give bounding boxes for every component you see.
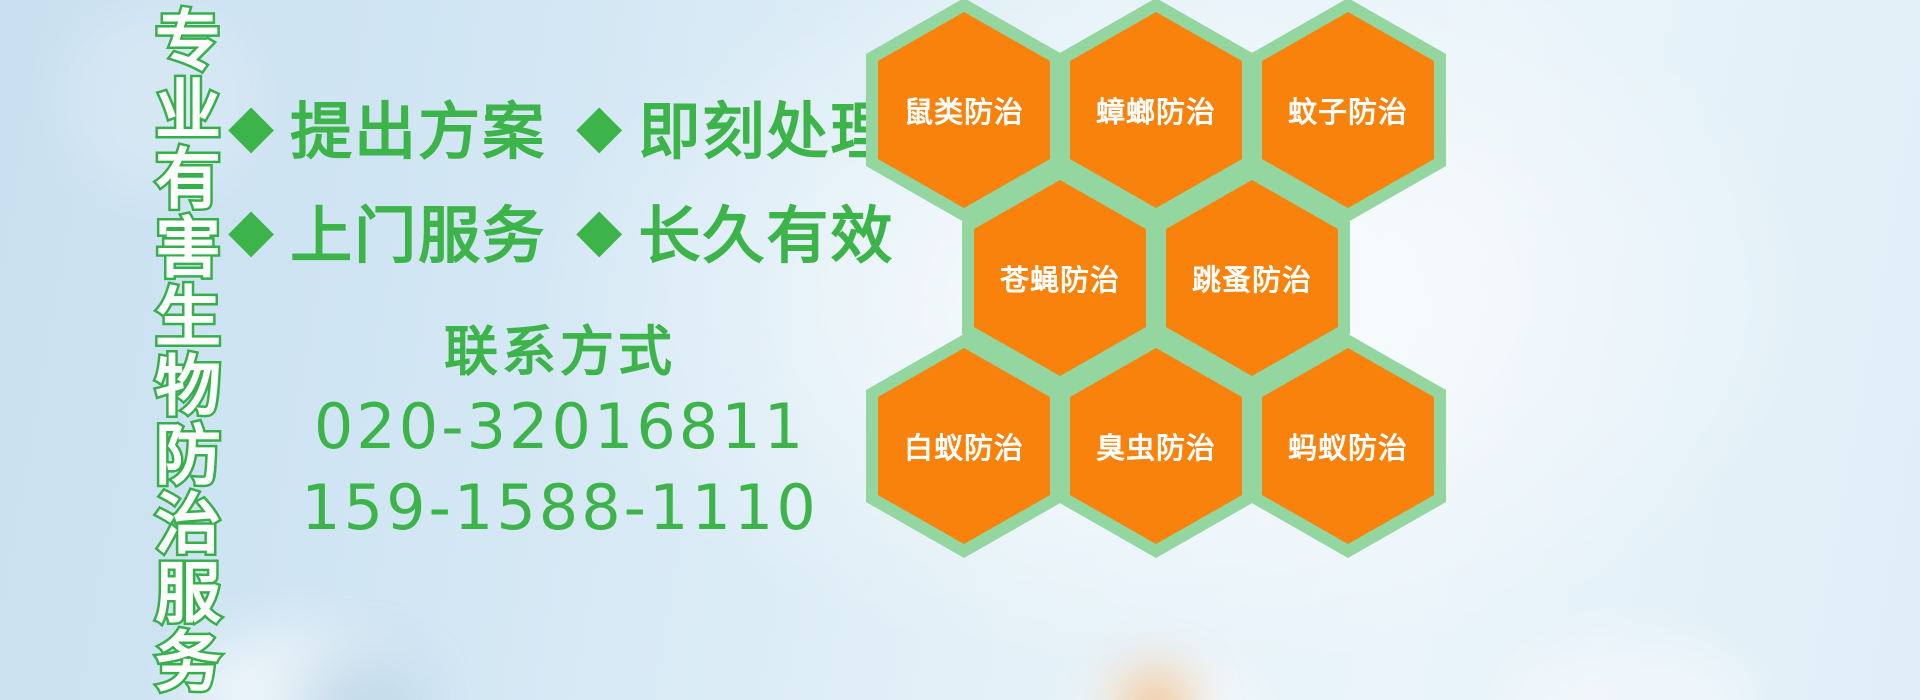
hex-inner: 蚂蚁防治 xyxy=(1262,348,1434,544)
hex-inner: 蚊子防治 xyxy=(1262,12,1434,208)
phone-number-landline[interactable]: 020-32016811 xyxy=(250,386,870,468)
hex-label: 蟑螂防治 xyxy=(1096,89,1216,131)
diamond-bullet-icon: ◆ xyxy=(228,200,274,260)
background-blur-blob xyxy=(1500,640,1760,700)
feature-item-long-lasting-effect: ◆ 长久有效 xyxy=(576,185,894,275)
feature-label: 上门服务 xyxy=(290,185,546,275)
hex-label: 跳蚤防治 xyxy=(1192,257,1312,299)
hex-label: 臭虫防治 xyxy=(1096,425,1216,467)
hex-inner: 臭虫防治 xyxy=(1070,348,1242,544)
diamond-bullet-icon: ◆ xyxy=(576,200,622,260)
hex-label: 蚊子防治 xyxy=(1288,89,1408,131)
feature-item-propose-plan: ◆ 提出方案 xyxy=(228,81,546,171)
contact-block: 联系方式 020-32016811 159-1588-1110 xyxy=(250,318,870,549)
hex-label: 苍蝇防治 xyxy=(1000,257,1120,299)
hex-inner: 白蚁防治 xyxy=(878,348,1050,544)
hex-inner: 苍蝇防治 xyxy=(974,180,1146,376)
hex-label: 鼠类防治 xyxy=(904,89,1024,131)
hex-inner: 蟑螂防治 xyxy=(1070,12,1242,208)
feature-label: 提出方案 xyxy=(290,81,546,171)
hex-label: 白蚁防治 xyxy=(904,425,1024,467)
feature-list: ◆ 提出方案 ◆ 即刻处理 ◆ 上门服务 ◆ 长久有效 xyxy=(228,74,868,282)
hex-inner: 跳蚤防治 xyxy=(1166,180,1338,376)
background-blur-blob xyxy=(1080,660,1260,700)
diamond-bullet-icon: ◆ xyxy=(228,96,274,156)
hex-inner: 鼠类防治 xyxy=(878,12,1050,208)
feature-row: ◆ 提出方案 ◆ 即刻处理 xyxy=(228,74,868,178)
feature-item-door-to-door-service: ◆ 上门服务 xyxy=(228,185,546,275)
background-blur-blob xyxy=(1120,672,1190,700)
feature-row: ◆ 上门服务 ◆ 长久有效 xyxy=(228,178,868,282)
pest-control-banner: 专业有害生物防治服务 ◆ 提出方案 ◆ 即刻处理 ◆ 上门服务 ◆ 长久有效 联… xyxy=(0,0,1920,700)
diamond-bullet-icon: ◆ xyxy=(576,96,622,156)
background-blur-blob xyxy=(300,655,420,700)
contact-title: 联系方式 xyxy=(250,318,870,386)
vertical-headline: 专业有害生物防治服务 xyxy=(104,6,216,566)
service-honeycomb: 鼠类防治 蟑螂防治 蚊子防治 苍蝇防治 跳蚤防治 白蚁防治 xyxy=(852,0,1472,552)
hex-label: 蚂蚁防治 xyxy=(1288,425,1408,467)
phone-number-mobile[interactable]: 159-1588-1110 xyxy=(250,467,870,549)
feature-item-immediate-handling: ◆ 即刻处理 xyxy=(576,81,894,171)
